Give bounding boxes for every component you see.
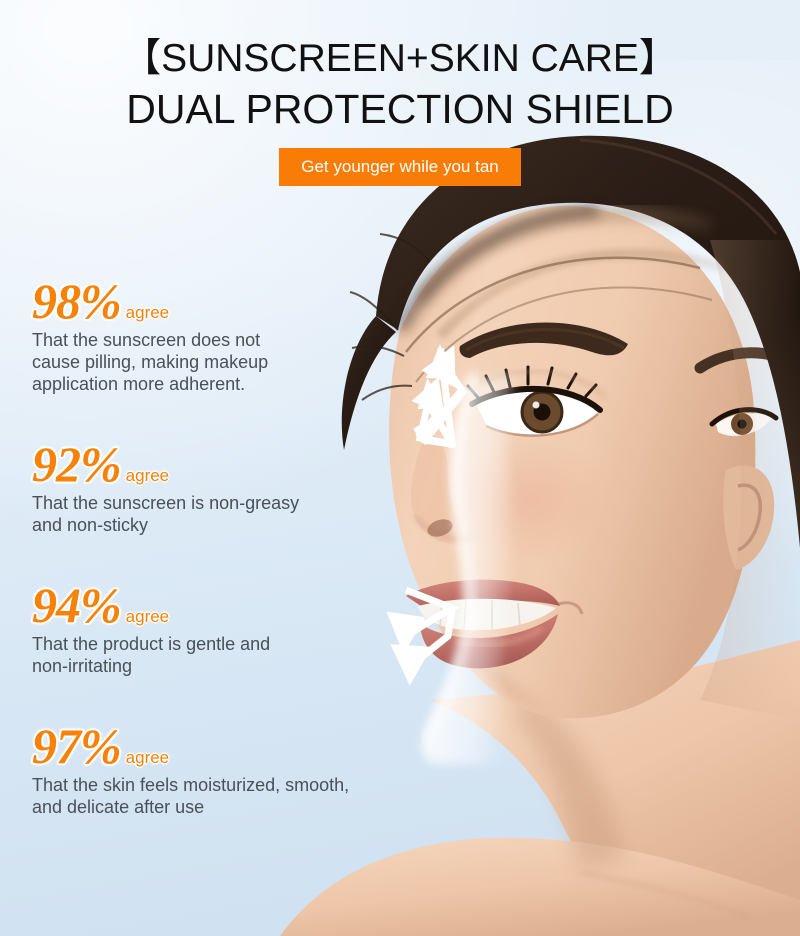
statistics-list: 98% agree That the sunscreen does not ca… — [32, 276, 462, 818]
stat-agree-label: agree — [126, 304, 169, 321]
stat-agree-label: agree — [126, 749, 169, 766]
page-title-line-1: 【SUNSCREEN+SKIN CARE】 — [0, 36, 800, 82]
header: 【SUNSCREEN+SKIN CARE】 DUAL PROTECTION SH… — [0, 36, 800, 186]
stat-percent: 92% — [32, 439, 121, 489]
stat-description: That the sunscreen is non-greasy and non… — [32, 492, 462, 536]
stat-item: 92% agree That the sunscreen is non-grea… — [32, 439, 462, 536]
stat-headline: 97% agree — [32, 721, 462, 771]
page-title-line-2: DUAL PROTECTION SHIELD — [0, 86, 800, 132]
stat-headline: 92% agree — [32, 439, 462, 489]
tagline-badge: Get younger while you tan — [279, 148, 521, 186]
stat-item: 97% agree That the skin feels moisturize… — [32, 721, 462, 818]
stat-description: That the product is gentle and non-irrit… — [32, 633, 462, 677]
stat-headline: 98% agree — [32, 276, 462, 326]
stat-agree-label: agree — [126, 608, 169, 625]
stat-item: 98% agree That the sunscreen does not ca… — [32, 276, 462, 395]
stat-description: That the skin feels moisturized, smooth,… — [32, 774, 462, 818]
stat-description: That the sunscreen does not cause pillin… — [32, 329, 462, 395]
stat-headline: 94% agree — [32, 580, 462, 630]
stat-item: 94% agree That the product is gentle and… — [32, 580, 462, 677]
poster-root: 【SUNSCREEN+SKIN CARE】 DUAL PROTECTION SH… — [0, 0, 800, 936]
badge-container: Get younger while you tan — [0, 148, 800, 186]
stat-percent: 94% — [32, 580, 121, 630]
stat-percent: 98% — [32, 276, 121, 326]
stat-agree-label: agree — [126, 467, 169, 484]
stat-percent: 97% — [32, 721, 121, 771]
